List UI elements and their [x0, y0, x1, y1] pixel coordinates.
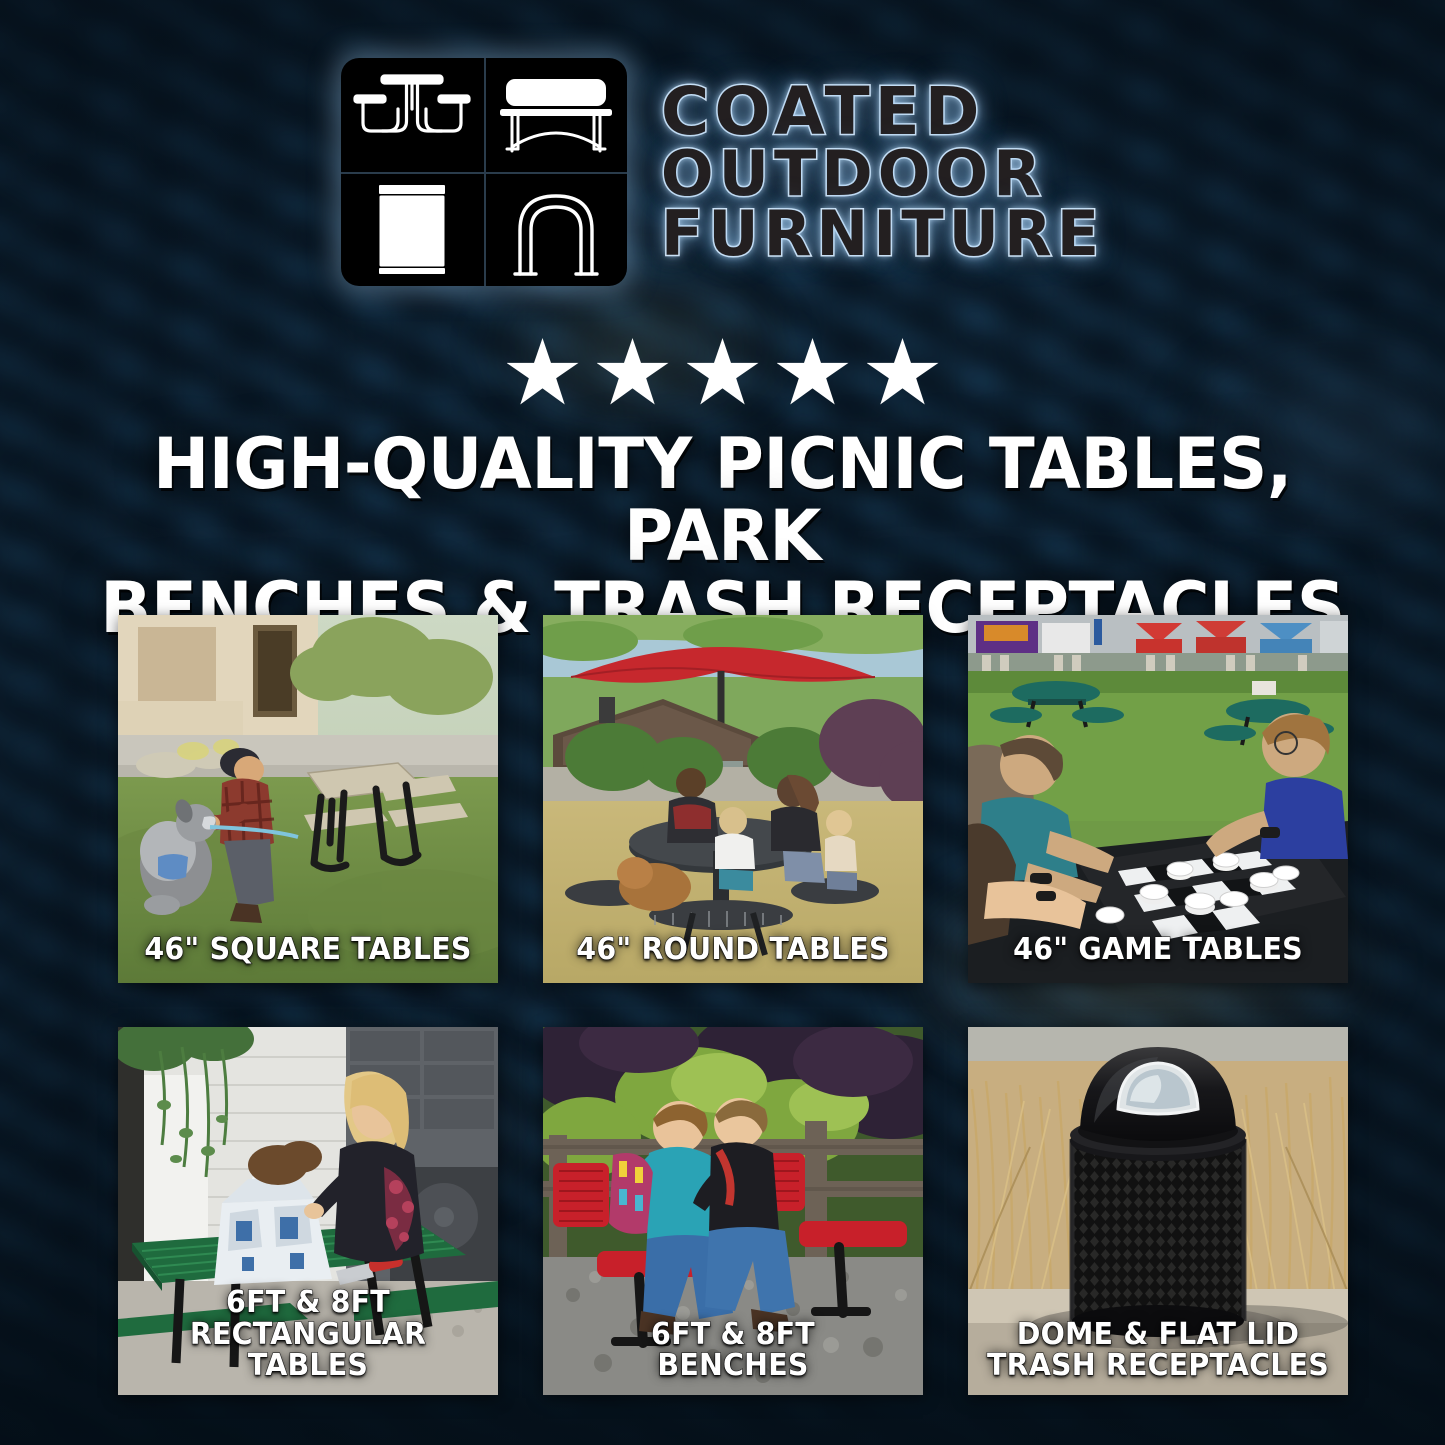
picnic-table-front-icon	[341, 58, 484, 172]
product-tile-trash-receptacles[interactable]: DOME & FLAT LID TRASH RECEPTACLES	[968, 1027, 1348, 1395]
star-icon	[507, 338, 579, 408]
caption-line-2: RECTANGULAR TABLES	[133, 1319, 483, 1381]
caption-line-1: 6FT & 8FT	[133, 1287, 483, 1318]
product-caption-square-tables: 46" SQUARE TABLES	[133, 934, 483, 965]
product-tile-round-tables[interactable]: 46" ROUND TABLES	[543, 615, 923, 983]
caption-line-2: BENCHES	[558, 1350, 908, 1381]
product-photo-round-tables	[543, 615, 923, 983]
brand-wordmark: COATED OUTDOOR FURNITURE	[661, 80, 1104, 264]
product-tile-square-tables[interactable]: 46" SQUARE TABLES	[118, 615, 498, 983]
logo-mark-grid	[341, 58, 627, 286]
wordmark-line-2: OUTDOOR	[661, 144, 1046, 204]
caption-line-1: 46" ROUND TABLES	[558, 934, 908, 965]
bench-table-side-icon	[484, 58, 627, 172]
caption-line-1: 6FT & 8FT	[558, 1319, 908, 1350]
caption-line-1: DOME & FLAT LID	[983, 1319, 1333, 1350]
wordmark-line-3: FURNITURE	[661, 204, 1104, 264]
arch-bike-rack-icon	[484, 172, 627, 286]
star-icon	[597, 338, 669, 408]
caption-line-2: TRASH RECEPTACLES	[983, 1350, 1333, 1381]
star-icon	[777, 338, 849, 408]
caption-line-1: 46" SQUARE TABLES	[133, 934, 483, 965]
trash-receptacle-icon	[341, 172, 484, 286]
star-icon	[687, 338, 759, 408]
promotional-poster: COATED OUTDOOR FURNITURE HIGH-QUALITY PI…	[0, 0, 1445, 1445]
star-icon	[867, 338, 939, 408]
caption-line-1: 46" GAME TABLES	[983, 934, 1333, 965]
product-caption-trash-receptacles: DOME & FLAT LID TRASH RECEPTACLES	[983, 1319, 1333, 1381]
headline: HIGH-QUALITY PICNIC TABLES, PARK BENCHES…	[87, 428, 1359, 644]
product-caption-benches: 6FT & 8FT BENCHES	[558, 1319, 908, 1381]
product-tile-rectangular-tables[interactable]: 6FT & 8FT RECTANGULAR TABLES	[118, 1027, 498, 1395]
product-tile-game-tables[interactable]: 46" GAME TABLES	[968, 615, 1348, 983]
product-caption-round-tables: 46" ROUND TABLES	[558, 934, 908, 965]
product-photo-square-tables	[118, 615, 498, 983]
brand-logo: COATED OUTDOOR FURNITURE	[0, 58, 1445, 286]
product-caption-rectangular-tables: 6FT & 8FT RECTANGULAR TABLES	[133, 1287, 483, 1381]
product-grid: 46" SQUARE TABLES	[118, 615, 1327, 1395]
product-caption-game-tables: 46" GAME TABLES	[983, 934, 1333, 965]
star-rating	[0, 338, 1445, 408]
product-tile-benches[interactable]: 6FT & 8FT BENCHES	[543, 1027, 923, 1395]
product-photo-game-tables	[968, 615, 1348, 983]
headline-line-1: HIGH-QUALITY PICNIC TABLES, PARK	[87, 428, 1359, 572]
wordmark-line-1: COATED	[661, 80, 985, 144]
